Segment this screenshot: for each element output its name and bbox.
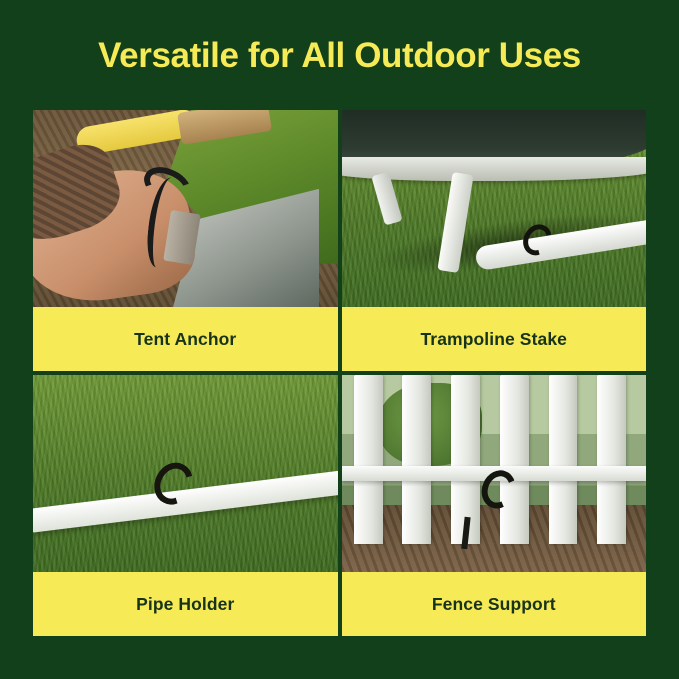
tile-pipe-holder: Pipe Holder [33, 375, 338, 636]
tile-caption: Fence Support [342, 572, 647, 636]
fence-picket [354, 375, 383, 544]
page-title: Versatile for All Outdoor Uses [0, 36, 679, 76]
tile-trampoline-stake: Trampoline Stake [342, 110, 647, 371]
photo-fence-support [342, 375, 647, 572]
tile-caption: Trampoline Stake [342, 307, 647, 371]
fence-picket [597, 375, 626, 544]
photo-trampoline-stake [342, 110, 647, 307]
tile-fence-support: Fence Support [342, 375, 647, 636]
fence-picket [402, 375, 431, 544]
tile-grid: Tent Anchor Trampoline Stake [33, 110, 646, 636]
tile-tent-anchor: Tent Anchor [33, 110, 338, 371]
fence-picket [549, 375, 578, 544]
photo-tent-anchor [33, 110, 338, 307]
tile-caption: Pipe Holder [33, 572, 338, 636]
fence-picket [500, 375, 529, 544]
photo-pipe-holder [33, 375, 338, 572]
tile-caption: Tent Anchor [33, 307, 338, 371]
poster: Versatile for All Outdoor Uses Tent Anch… [0, 0, 679, 679]
